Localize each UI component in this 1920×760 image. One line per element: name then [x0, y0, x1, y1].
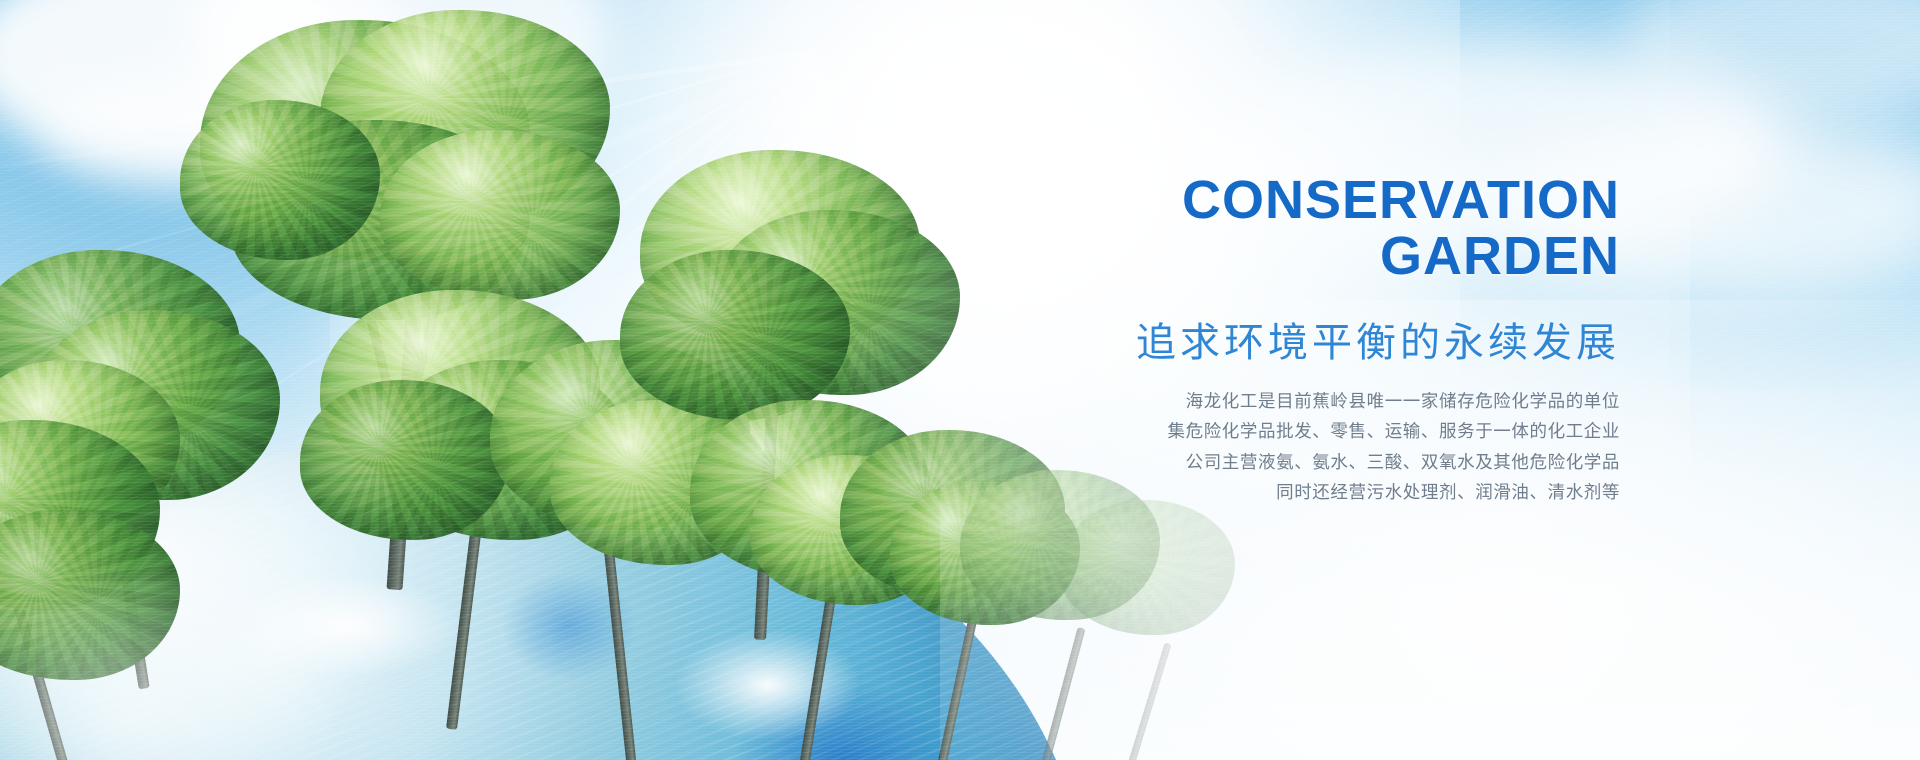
description-line: 海龙化工是目前蕉岭县唯一一家储存危险化学品的单位 [920, 386, 1620, 416]
tagline: 追求环境平衡的永续发展 [920, 310, 1620, 368]
description-line: 同时还经营污水处理剂、润滑油、清水剂等 [920, 477, 1620, 507]
headline-line-2: GARDEN [920, 228, 1620, 284]
banner-copy: CONSERVATION GARDEN 追求环境平衡的永续发展 海龙化工是目前蕉… [920, 172, 1620, 507]
description-line: 集危险化学品批发、零售、运输、服务于一体的化工企业 [920, 416, 1620, 446]
page-title: CONSERVATION GARDEN [920, 172, 1620, 284]
hero-banner: CONSERVATION GARDEN 追求环境平衡的永续发展 海龙化工是目前蕉… [0, 0, 1920, 760]
description-line: 公司主营液氨、氨水、三酸、双氧水及其他危险化学品 [920, 447, 1620, 477]
description-block: 海龙化工是目前蕉岭县唯一一家储存危险化学品的单位 集危险化学品批发、零售、运输、… [920, 386, 1620, 506]
headline-line-1: CONSERVATION [1182, 170, 1620, 230]
